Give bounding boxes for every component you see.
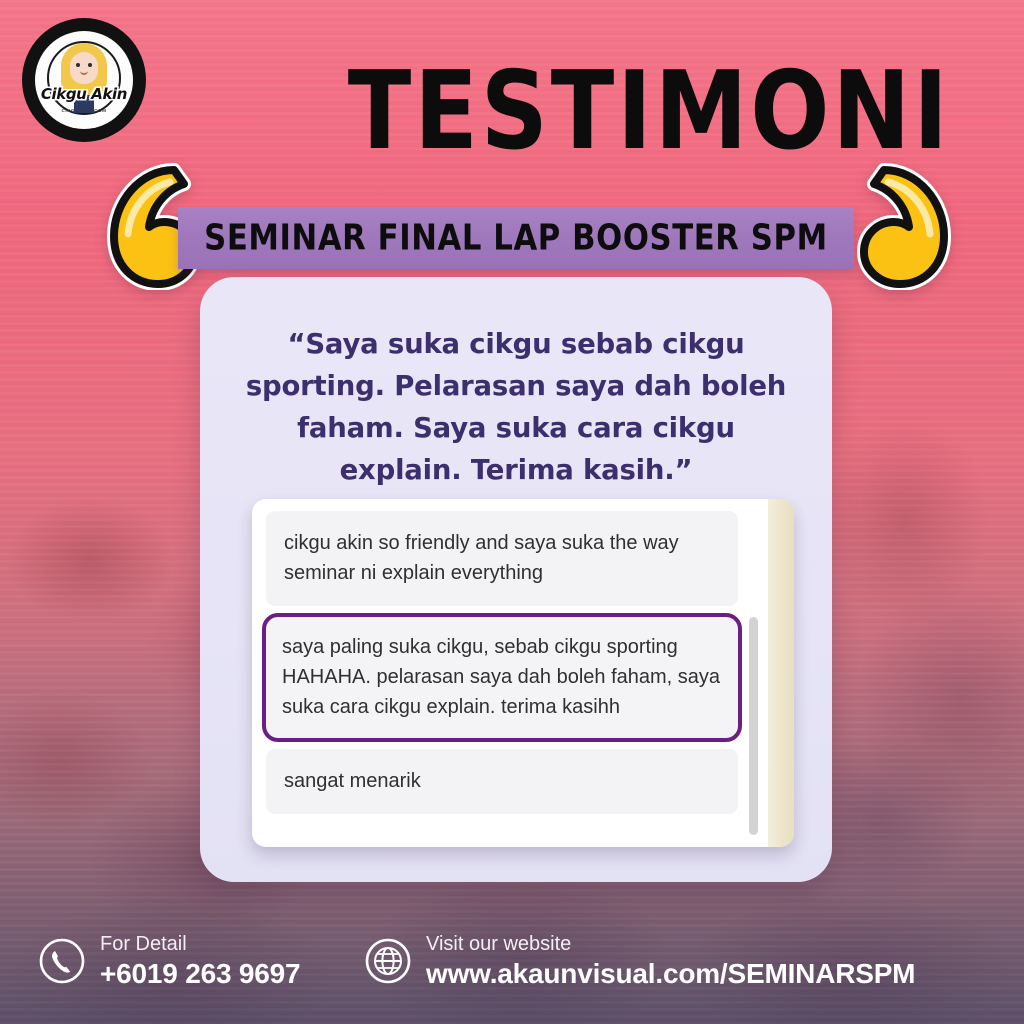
footer-website-label: Visit our website	[426, 932, 915, 957]
footer-contact-website[interactable]: Visit our website www.akaunvisual.com/SE…	[364, 932, 915, 990]
chat-screenshot: cikgu akin so friendly and saya suka the…	[252, 499, 794, 847]
list-item: cikgu akin so friendly and saya suka the…	[266, 511, 738, 606]
footer-phone-value: +6019 263 9697	[100, 957, 300, 990]
testimonial-quote: “Saya suka cikgu sebab cikgu sporting. P…	[234, 323, 798, 491]
footer-contact-phone[interactable]: For Detail +6019 263 9697	[38, 932, 300, 990]
logo-inner-circle: Cikgu Akin CIKGUAKIN.COM	[35, 31, 133, 129]
message-list: cikgu akin so friendly and saya suka the…	[266, 511, 738, 821]
seminar-banner-label: SEMINAR FINAL LAP BOOSTER SPM	[204, 217, 828, 258]
globe-icon	[364, 937, 412, 985]
list-item-highlighted: saya paling suka cikgu, sebab cikgu spor…	[262, 613, 742, 742]
page-title: TESTIMONI	[348, 49, 852, 172]
footer-phone-lines: For Detail +6019 263 9697	[100, 932, 300, 990]
footer-phone-label: For Detail	[100, 932, 300, 957]
phone-icon	[38, 937, 86, 985]
quote-close-icon	[838, 162, 958, 290]
logo-subtext: CIKGUAKIN.COM	[35, 108, 133, 113]
brand-logo: Cikgu Akin CIKGUAKIN.COM	[22, 18, 146, 142]
footer-website-value: www.akaunvisual.com/SEMINARSPM	[426, 957, 915, 990]
scrollbar-thumb[interactable]	[749, 617, 758, 835]
list-item: sangat menarik	[266, 749, 738, 814]
seminar-banner: SEMINAR FINAL LAP BOOSTER SPM	[178, 207, 854, 269]
screenshot-page-edge	[768, 499, 794, 847]
footer: For Detail +6019 263 9697 Visit our webs…	[0, 914, 1024, 1024]
logo-wordmark: Cikgu Akin	[35, 85, 133, 103]
testimonial-card: “Saya suka cikgu sebab cikgu sporting. P…	[200, 277, 832, 882]
footer-website-lines: Visit our website www.akaunvisual.com/SE…	[426, 932, 915, 990]
